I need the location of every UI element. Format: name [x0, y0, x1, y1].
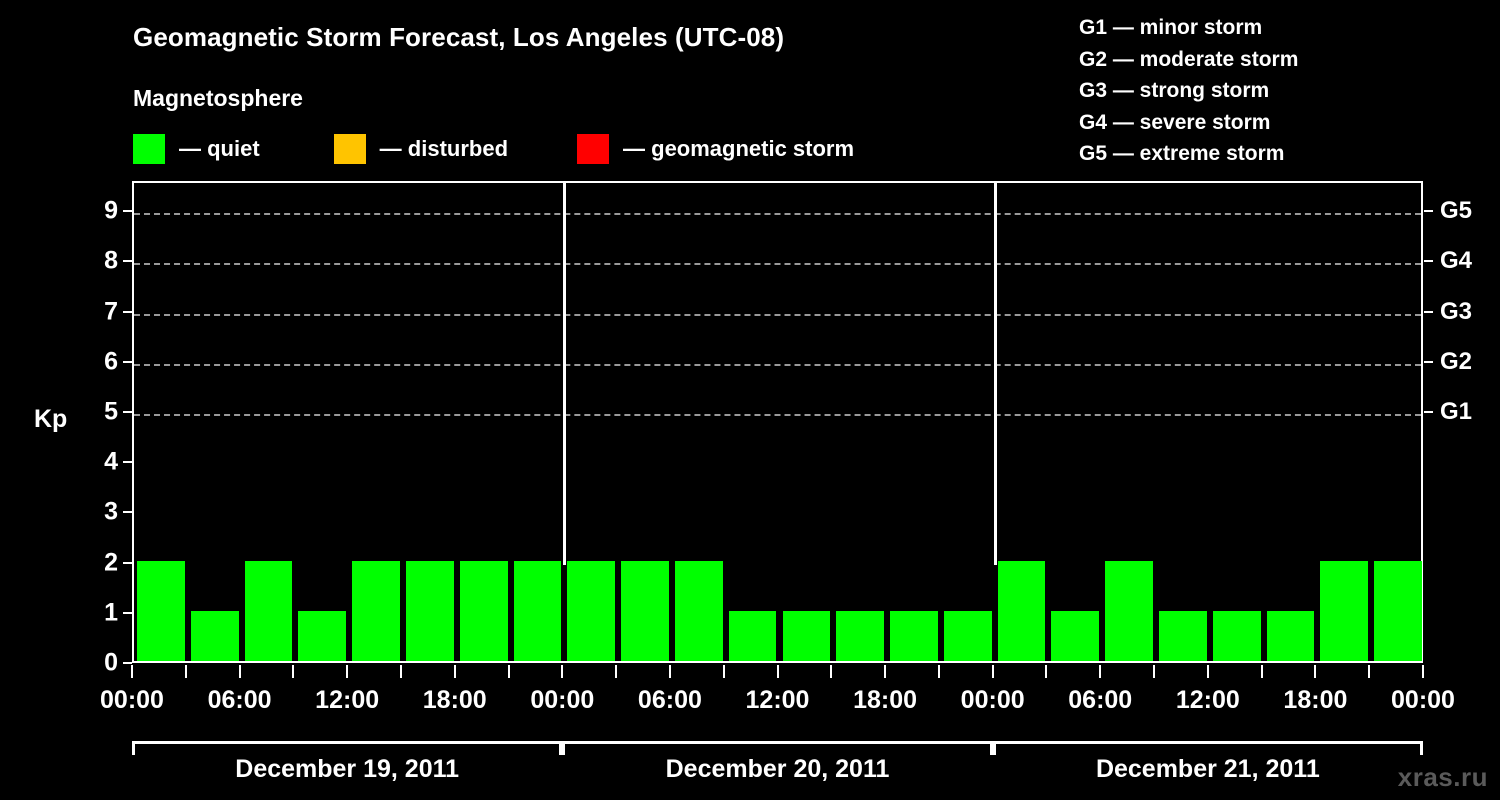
right-tick-label-G4: G4: [1440, 247, 1472, 275]
day-label: December 19, 2011: [235, 755, 459, 784]
x-tick-h57: [1153, 665, 1155, 678]
x-tick-h9: [292, 665, 294, 678]
bar: [352, 561, 400, 661]
right-tick-G4: [1424, 260, 1433, 262]
x-tick-label-h30: 06:00: [638, 686, 702, 715]
x-tick-label-h66: 18:00: [1283, 686, 1347, 715]
bar: [406, 561, 454, 661]
x-tick-h12: [346, 665, 348, 678]
x-tick-h42: [884, 665, 886, 678]
y-tick-2: [123, 562, 132, 564]
storm-swatch-icon: [577, 134, 609, 164]
x-tick-h15: [400, 665, 402, 678]
right-tick-G1: [1424, 411, 1433, 413]
y-tick-5: [123, 411, 132, 413]
x-tick-label-h72: 00:00: [1391, 686, 1455, 715]
y-tick-8: [123, 260, 132, 262]
right-axis-labels: G1G2G3G4G5: [1440, 181, 1500, 663]
plot-area: [132, 181, 1423, 663]
y-tick-1: [123, 612, 132, 614]
x-tick-h24: [561, 665, 563, 678]
x-tick-h27: [615, 665, 617, 678]
x-axis-labels: 00:0006:0012:0018:0000:0006:0012:0018:00…: [0, 686, 1500, 720]
day-bracket: [993, 741, 1423, 755]
bar: [298, 611, 346, 661]
right-tick-G3: [1424, 311, 1433, 313]
y-tick-7: [123, 311, 132, 313]
x-axis-ticks: [132, 665, 1423, 679]
g-scale-line-g4: G4 — severe storm: [1079, 107, 1298, 139]
bar: [514, 561, 562, 661]
y-tick-3: [123, 511, 132, 513]
x-tick-h69: [1368, 665, 1370, 678]
bar-series: [134, 183, 1421, 661]
bar: [1320, 561, 1368, 661]
g-scale-line-g2: G2 — moderate storm: [1079, 44, 1298, 76]
bar: [1213, 611, 1261, 661]
x-tick-label-h60: 12:00: [1176, 686, 1240, 715]
x-tick-h54: [1099, 665, 1101, 678]
x-tick-h21: [508, 665, 510, 678]
x-tick-h72: [1422, 665, 1424, 678]
x-tick-label-h42: 18:00: [853, 686, 917, 715]
bar: [1374, 561, 1422, 661]
bar: [1051, 611, 1099, 661]
x-tick-label-h12: 12:00: [315, 686, 379, 715]
y-tick-6: [123, 361, 132, 363]
day-label: December 20, 2011: [666, 755, 890, 784]
bar: [836, 611, 884, 661]
watermark: xras.ru: [1398, 762, 1488, 793]
y-tick-4: [123, 461, 132, 463]
y-tick-label-3: 3: [104, 498, 118, 527]
y-tick-label-9: 9: [104, 197, 118, 226]
x-tick-h51: [1045, 665, 1047, 678]
x-tick-h3: [185, 665, 187, 678]
magnetosphere-label: Magnetosphere: [133, 85, 303, 112]
bar: [1267, 611, 1315, 661]
bar: [245, 561, 293, 661]
x-tick-h30: [669, 665, 671, 678]
y-tick-label-8: 8: [104, 247, 118, 276]
day-label: December 21, 2011: [1096, 755, 1320, 784]
day-bracket: [132, 741, 562, 755]
x-tick-h39: [830, 665, 832, 678]
bar: [1159, 611, 1207, 661]
x-tick-label-h0: 00:00: [100, 686, 164, 715]
y-tick-9: [123, 210, 132, 212]
bar: [783, 611, 831, 661]
x-tick-h33: [723, 665, 725, 678]
y-tick-label-2: 2: [104, 548, 118, 577]
bar: [890, 611, 938, 661]
legend-item-disturbed: — disturbed: [334, 134, 508, 164]
y-tick-label-0: 0: [104, 649, 118, 678]
x-tick-h48: [992, 665, 994, 678]
y-tick-label-1: 1: [104, 598, 118, 627]
x-tick-label-h18: 18:00: [423, 686, 487, 715]
y-tick-label-7: 7: [104, 297, 118, 326]
legend-label-disturbed: — disturbed: [380, 136, 508, 162]
x-tick-label-h54: 06:00: [1068, 686, 1132, 715]
bar: [621, 561, 669, 661]
y-tick-label-6: 6: [104, 347, 118, 376]
x-tick-label-h48: 00:00: [961, 686, 1025, 715]
x-tick-h66: [1314, 665, 1316, 678]
g-scale-line-g3: G3 — strong storm: [1079, 75, 1298, 107]
right-tick-label-G1: G1: [1440, 398, 1472, 426]
bar: [1105, 561, 1153, 661]
y-axis-title: Kp: [34, 405, 67, 434]
right-tick-G5: [1424, 210, 1433, 212]
x-tick-label-h36: 12:00: [746, 686, 810, 715]
bar: [729, 611, 777, 661]
day-separator: [994, 183, 997, 565]
y-tick-label-5: 5: [104, 397, 118, 426]
bar: [675, 561, 723, 661]
right-tick-G2: [1424, 361, 1433, 363]
page-title: Geomagnetic Storm Forecast, Los Angeles …: [133, 22, 784, 53]
y-tick-label-4: 4: [104, 448, 118, 477]
legend-label-storm: — geomagnetic storm: [623, 136, 854, 162]
right-tick-label-G5: G5: [1440, 197, 1472, 225]
day-separator: [563, 183, 566, 565]
quiet-swatch-icon: [133, 134, 165, 164]
bar: [998, 561, 1046, 661]
x-tick-h6: [239, 665, 241, 678]
day-bracket: [562, 741, 992, 755]
x-tick-h63: [1261, 665, 1263, 678]
g-scale-line-g1: G1 — minor storm: [1079, 12, 1298, 44]
bar: [567, 561, 615, 661]
x-tick-h0: [131, 665, 133, 678]
bar: [191, 611, 239, 661]
x-tick-h36: [777, 665, 779, 678]
g-scale-line-g5: G5 — extreme storm: [1079, 138, 1298, 170]
y-tick-0: [123, 662, 132, 664]
right-tick-label-G3: G3: [1440, 298, 1472, 326]
x-tick-h45: [938, 665, 940, 678]
y-axis-labels: 0123456789: [74, 181, 118, 663]
right-tick-label-G2: G2: [1440, 348, 1472, 376]
bar: [460, 561, 508, 661]
x-tick-h18: [454, 665, 456, 678]
bar: [944, 611, 992, 661]
legend-label-quiet: — quiet: [179, 136, 260, 162]
disturbed-swatch-icon: [334, 134, 366, 164]
x-tick-label-h6: 06:00: [208, 686, 272, 715]
legend-item-storm: — geomagnetic storm: [577, 134, 854, 164]
legend: — quiet — disturbed — geomagnetic storm: [133, 133, 854, 165]
bar: [137, 561, 185, 661]
x-tick-h60: [1207, 665, 1209, 678]
legend-item-quiet: — quiet: [133, 134, 260, 164]
g-scale-legend: G1 — minor storm G2 — moderate storm G3 …: [1079, 12, 1298, 170]
x-tick-label-h24: 00:00: [530, 686, 594, 715]
